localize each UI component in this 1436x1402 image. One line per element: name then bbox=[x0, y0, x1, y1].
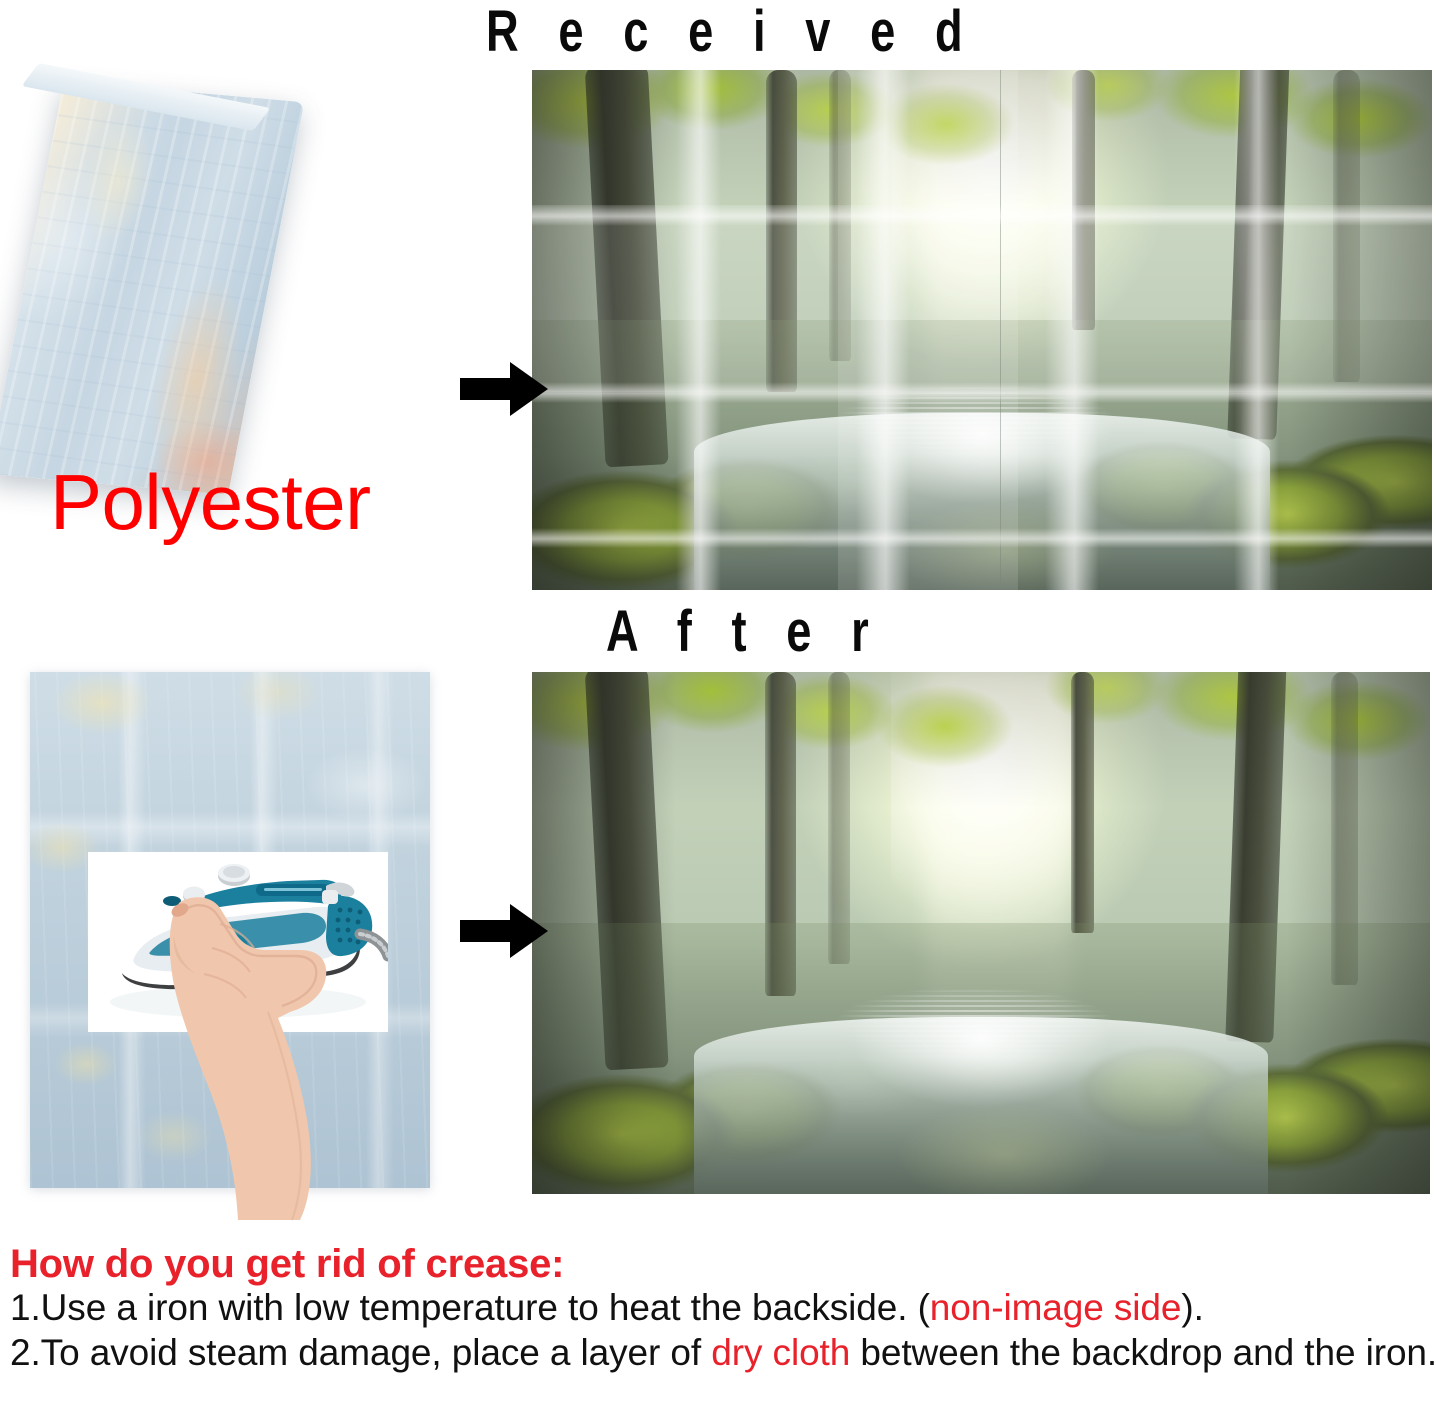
received-section-title: R e c e i v e d bbox=[486, 0, 976, 65]
instruction-2-number: 2. bbox=[10, 1332, 41, 1373]
right-arrow-icon bbox=[458, 898, 550, 964]
instruction-line-2: 2.To avoid steam damage, place a layer o… bbox=[10, 1330, 1430, 1375]
after-section-title: A f t e r bbox=[606, 598, 882, 665]
instruction-1-text-before: Use a iron with low temperature to heat … bbox=[41, 1287, 930, 1328]
infographic-canvas: R e c e i v e d Polyester bbox=[0, 0, 1436, 1402]
instruction-1-highlight: non-image side bbox=[930, 1287, 1182, 1328]
folded-polyester-roll-photo bbox=[18, 78, 418, 498]
after-backdrop-photo bbox=[532, 672, 1430, 1194]
instruction-1-number: 1. bbox=[10, 1287, 41, 1328]
instruction-line-1: 1.Use a iron with low temperature to hea… bbox=[10, 1285, 1430, 1330]
polyester-material-label: Polyester bbox=[50, 457, 371, 548]
received-backdrop-photo bbox=[532, 70, 1432, 590]
instruction-2-highlight: dry cloth bbox=[711, 1332, 850, 1373]
photo-vignette bbox=[532, 70, 1432, 590]
instructions-heading: How do you get rid of crease: bbox=[10, 1243, 1430, 1285]
instruction-1-text-after: ). bbox=[1181, 1287, 1203, 1328]
instruction-2-text-after: between the backdrop and the iron. bbox=[850, 1332, 1436, 1373]
hand-pressing-iron bbox=[150, 890, 360, 1220]
instruction-2-text-before: To avoid steam damage, place a layer of bbox=[41, 1332, 712, 1373]
right-arrow-icon bbox=[458, 356, 550, 422]
care-instructions: How do you get rid of crease: 1.Use a ir… bbox=[10, 1243, 1430, 1375]
photo-vignette bbox=[532, 672, 1430, 1194]
fabric-roll-body bbox=[0, 81, 304, 495]
